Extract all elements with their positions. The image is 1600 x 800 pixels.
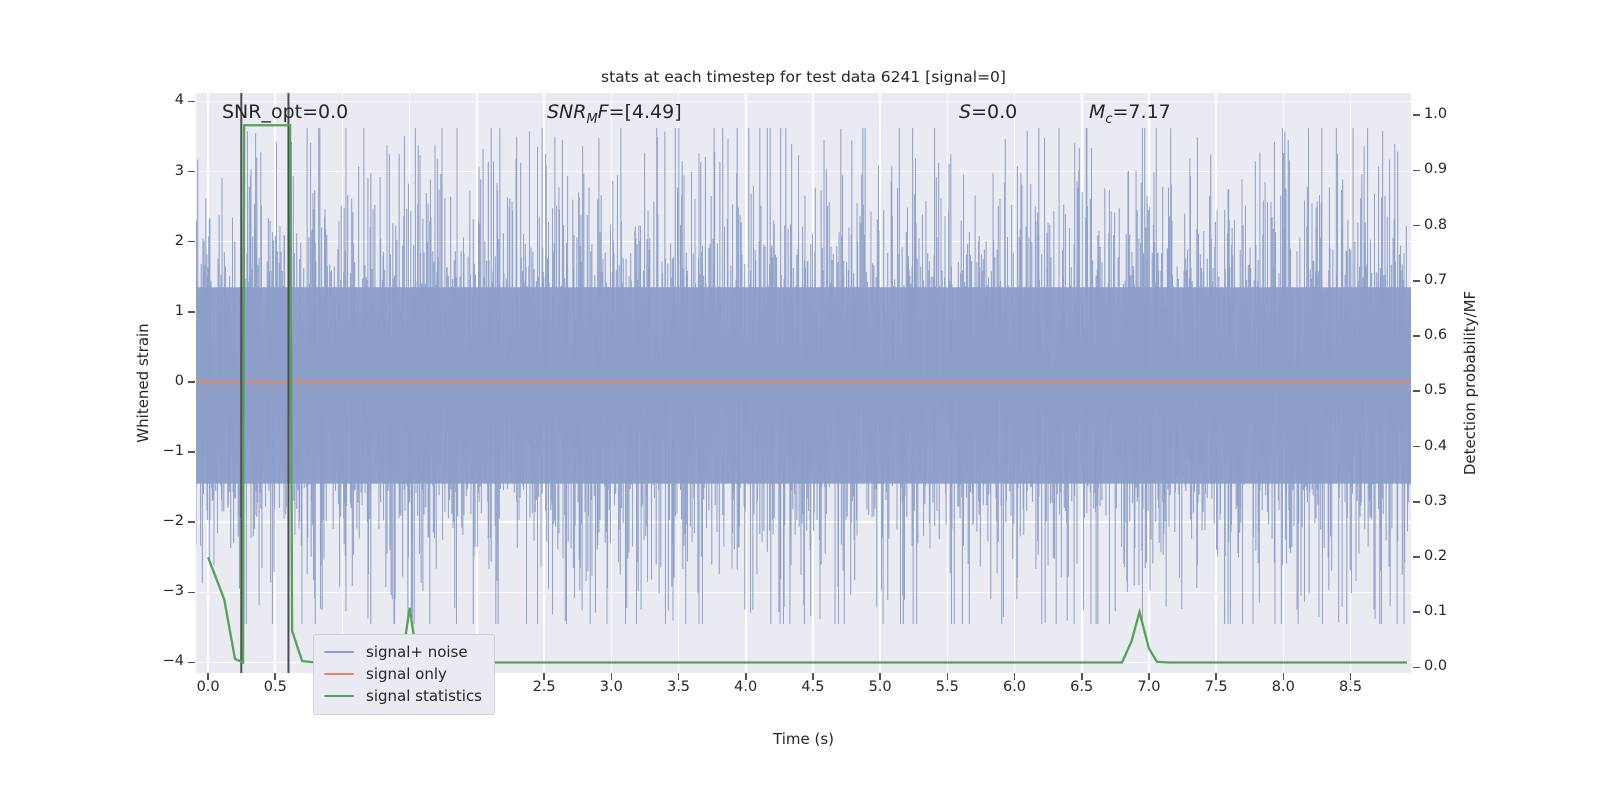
x-axis-tick-label: 3.0 — [581, 679, 641, 695]
y-axis-left-tick-mark — [188, 521, 195, 523]
x-axis-title: Time (s) — [196, 730, 1411, 748]
x-axis-tick-mark — [1283, 673, 1285, 680]
x-axis-tick-mark — [1215, 673, 1217, 680]
legend-label: signal statistics — [366, 687, 482, 705]
annotation-mc: Mc=7.17 — [1089, 101, 1171, 127]
x-axis-tick-mark — [812, 673, 814, 680]
y-axis-left-tick-label: 2 — [124, 233, 184, 249]
y-axis-right-tick-mark — [1413, 611, 1420, 613]
annotation-snr-mf: SNRMF=[4.49] — [547, 101, 682, 127]
legend-item[interactable]: signal+ noise — [324, 641, 482, 663]
y-axis-left-tick-label: −1 — [124, 443, 184, 459]
y-axis-left-tick-mark — [188, 381, 195, 383]
legend-swatch-icon — [324, 695, 354, 697]
x-axis-tick-mark — [745, 673, 747, 680]
y-axis-right-tick-mark — [1413, 667, 1420, 669]
x-axis-tick-mark — [1081, 673, 1083, 680]
legend-item[interactable]: signal only — [324, 663, 482, 685]
annotation-s-stat: S=0.0 — [959, 101, 1017, 123]
y-axis-left-tick-mark — [188, 451, 195, 453]
x-axis-tick-label: 7.0 — [1119, 679, 1179, 695]
y-axis-left-tick-label: −2 — [124, 513, 184, 529]
x-axis-tick-mark — [1350, 673, 1352, 680]
y-axis-right-tick-label: 0.8 — [1424, 217, 1484, 233]
x-axis-tick-mark — [274, 673, 276, 680]
y-axis-left-tick-mark — [188, 241, 195, 243]
x-axis-tick-label: 0.5 — [245, 679, 305, 695]
annotation-snr-opt: SNR_opt=0.0 — [222, 101, 348, 123]
x-axis-tick-mark — [543, 673, 545, 680]
y-axis-left-tick-mark — [188, 662, 195, 664]
x-axis-tick-label: 0.0 — [178, 679, 238, 695]
x-axis-tick-label: 4.0 — [716, 679, 776, 695]
y-axis-left-tick-mark — [188, 101, 195, 103]
x-axis-tick-mark — [678, 673, 680, 680]
x-axis-tick-mark — [879, 673, 881, 680]
y-axis-right-tick-mark — [1413, 114, 1420, 116]
x-axis-tick-label: 2.5 — [514, 679, 574, 695]
y-axis-left-title: Whitened strain — [134, 323, 152, 442]
y-axis-left-tick-label: 0 — [124, 373, 184, 389]
y-axis-right-tick-label: 0.0 — [1424, 658, 1484, 674]
y-axis-right-tick-label: 0.9 — [1424, 161, 1484, 177]
legend-label: signal+ noise — [366, 643, 468, 661]
y-axis-right-tick-mark — [1413, 280, 1420, 282]
y-axis-left-tick-label: 4 — [124, 92, 184, 108]
figure: stats at each timestep for test data 624… — [0, 0, 1600, 800]
y-axis-left-tick-mark — [188, 311, 195, 313]
x-axis-tick-mark — [947, 673, 949, 680]
y-axis-left-tick-label: 3 — [124, 163, 184, 179]
y-axis-right-tick-mark — [1413, 556, 1420, 558]
legend-swatch-icon — [324, 673, 354, 675]
legend-item[interactable]: signal statistics — [324, 685, 482, 707]
y-axis-right-tick-label: 0.1 — [1424, 603, 1484, 619]
x-axis-tick-mark — [1014, 673, 1016, 680]
page-title: stats at each timestep for test data 624… — [196, 68, 1411, 86]
y-axis-left-tick-label: −3 — [124, 583, 184, 599]
y-axis-right-tick-mark — [1413, 446, 1420, 448]
y-axis-right-tick-mark — [1413, 390, 1420, 392]
x-axis-tick-label: 3.5 — [649, 679, 709, 695]
y-axis-left-tick-mark — [188, 171, 195, 173]
x-axis-tick-label: 6.0 — [985, 679, 1045, 695]
y-axis-right-tick-label: 0.7 — [1424, 272, 1484, 288]
x-axis-tick-mark — [207, 673, 209, 680]
y-axis-right-tick-label: 1.0 — [1424, 106, 1484, 122]
y-axis-left-tick-mark — [188, 592, 195, 594]
signal-statistics-series — [196, 93, 1411, 673]
x-axis-tick-label: 8.5 — [1321, 679, 1381, 695]
x-axis-tick-label: 8.0 — [1253, 679, 1313, 695]
y-axis-right-tick-mark — [1413, 501, 1420, 503]
y-axis-right-tick-label: 0.2 — [1424, 548, 1484, 564]
x-axis-tick-mark — [1148, 673, 1150, 680]
x-axis-tick-mark — [611, 673, 613, 680]
legend: signal+ noisesignal onlysignal statistic… — [313, 634, 495, 715]
legend-swatch-icon — [324, 651, 354, 653]
x-axis-tick-label: 7.5 — [1186, 679, 1246, 695]
x-axis-tick-label: 5.5 — [917, 679, 977, 695]
y-axis-right-tick-mark — [1413, 170, 1420, 172]
y-axis-right-title: Detection probability/MF — [1461, 291, 1479, 475]
y-axis-right-tick-mark — [1413, 225, 1420, 227]
legend-label: signal only — [366, 665, 447, 683]
y-axis-right-tick-label: 0.3 — [1424, 493, 1484, 509]
x-axis-tick-label: 4.5 — [783, 679, 843, 695]
plot-area — [196, 93, 1411, 673]
y-axis-left-tick-label: −4 — [124, 653, 184, 669]
y-axis-left-tick-label: 1 — [124, 303, 184, 319]
y-axis-right-tick-mark — [1413, 335, 1420, 337]
x-axis-tick-label: 6.5 — [1052, 679, 1112, 695]
x-axis-tick-label: 5.0 — [850, 679, 910, 695]
